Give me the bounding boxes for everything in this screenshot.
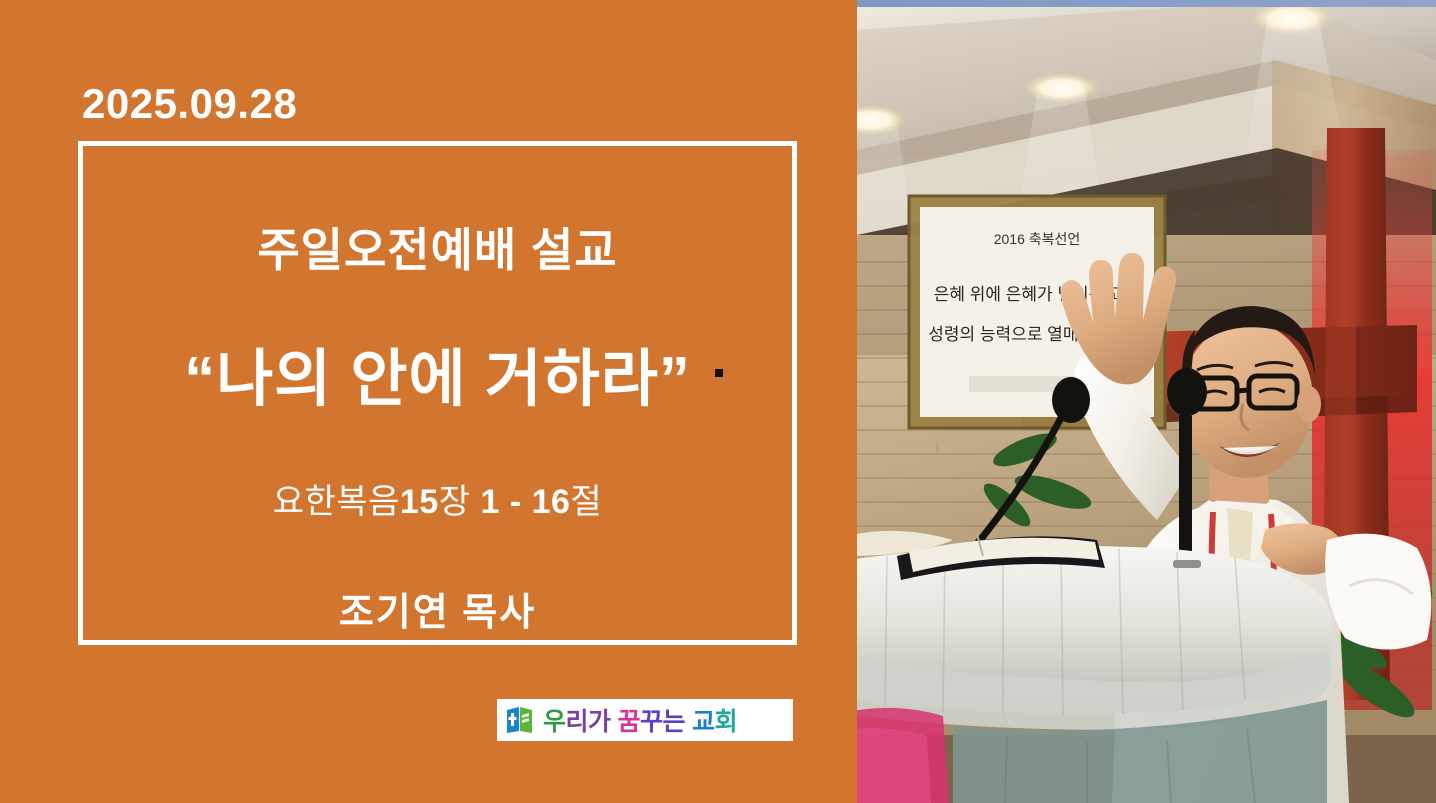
title-frame-content: 주일오전예배 설교 “나의 안에 거하라” 요한복음15장 1 - 16절 조기…: [83, 146, 792, 640]
scripture-verses: 1 - 16: [480, 483, 570, 521]
open-book-cross-icon: [505, 706, 535, 734]
service-type-label: 주일오전예배 설교: [257, 214, 617, 280]
logo-word-1: 리가: [566, 702, 611, 738]
scripture-reference: 요한복음15장 1 - 16절: [273, 474, 602, 523]
sermon-title-row: “나의 안에 거하라”: [184, 328, 691, 418]
logo-word-4: 교: [692, 702, 715, 738]
sermon-title-slide: 2025.09.28 주일오전예배 설교 “나의 안에 거하라” 요한복음15장…: [0, 0, 1436, 803]
photo-illustration: 2016 축복선언 은혜 위에 은혜가 넘치는 교회 성령의 능력으로 열매맺는…: [857, 0, 1436, 803]
logo-word-3: 꾸는: [640, 702, 685, 738]
church-logo: 우리가꿈꾸는교회: [497, 699, 793, 741]
scripture-chapter: 15: [400, 483, 439, 521]
scripture-chapter-unit: 장: [439, 483, 471, 521]
svg-text:2016 축복선언: 2016 축복선언: [994, 231, 1081, 247]
scripture-verse-unit: 절: [570, 483, 602, 521]
black-square-artifact: [715, 369, 723, 377]
title-frame-border: 주일오전예배 설교 “나의 안에 거하라” 요한복음15장 1 - 16절 조기…: [78, 141, 797, 645]
church-logo-text: 우리가꿈꾸는교회: [543, 702, 737, 738]
logo-word-5: 회: [715, 702, 738, 738]
logo-word-2: 꿈: [618, 702, 641, 738]
sermon-title: “나의 안에 거하라”: [184, 328, 691, 418]
preacher-name: 조기연 목사: [339, 581, 536, 636]
orange-info-panel: 2025.09.28 주일오전예배 설교 “나의 안에 거하라” 요한복음15장…: [0, 0, 857, 803]
logo-word-0: 우: [543, 702, 566, 738]
scripture-book: 요한복음: [273, 483, 400, 521]
sermon-date: 2025.09.28: [82, 80, 297, 128]
pastor-preaching-photo: 2016 축복선언 은혜 위에 은혜가 넘치는 교회 성령의 능력으로 열매맺는…: [857, 0, 1436, 803]
